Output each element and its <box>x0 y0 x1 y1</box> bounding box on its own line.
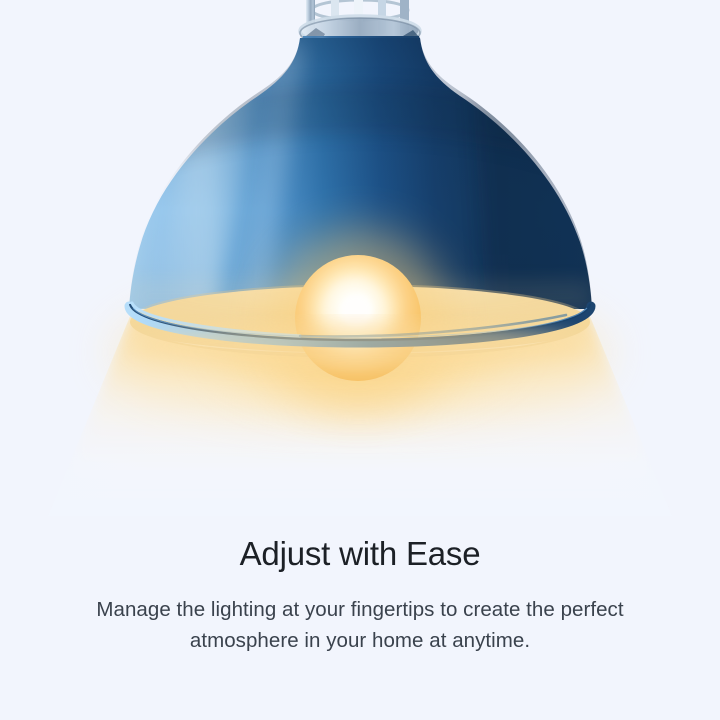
cone-top-blend <box>132 322 588 370</box>
page-subtitle: Manage the lighting at your fingertips t… <box>95 594 625 656</box>
page-title: Adjust with Ease <box>0 532 720 576</box>
promo-hero-card: Adjust with Ease Manage the lighting at … <box>0 0 720 720</box>
pendant-lamp-illustration <box>0 0 720 540</box>
caption-block: Adjust with Ease Manage the lighting at … <box>0 532 720 656</box>
